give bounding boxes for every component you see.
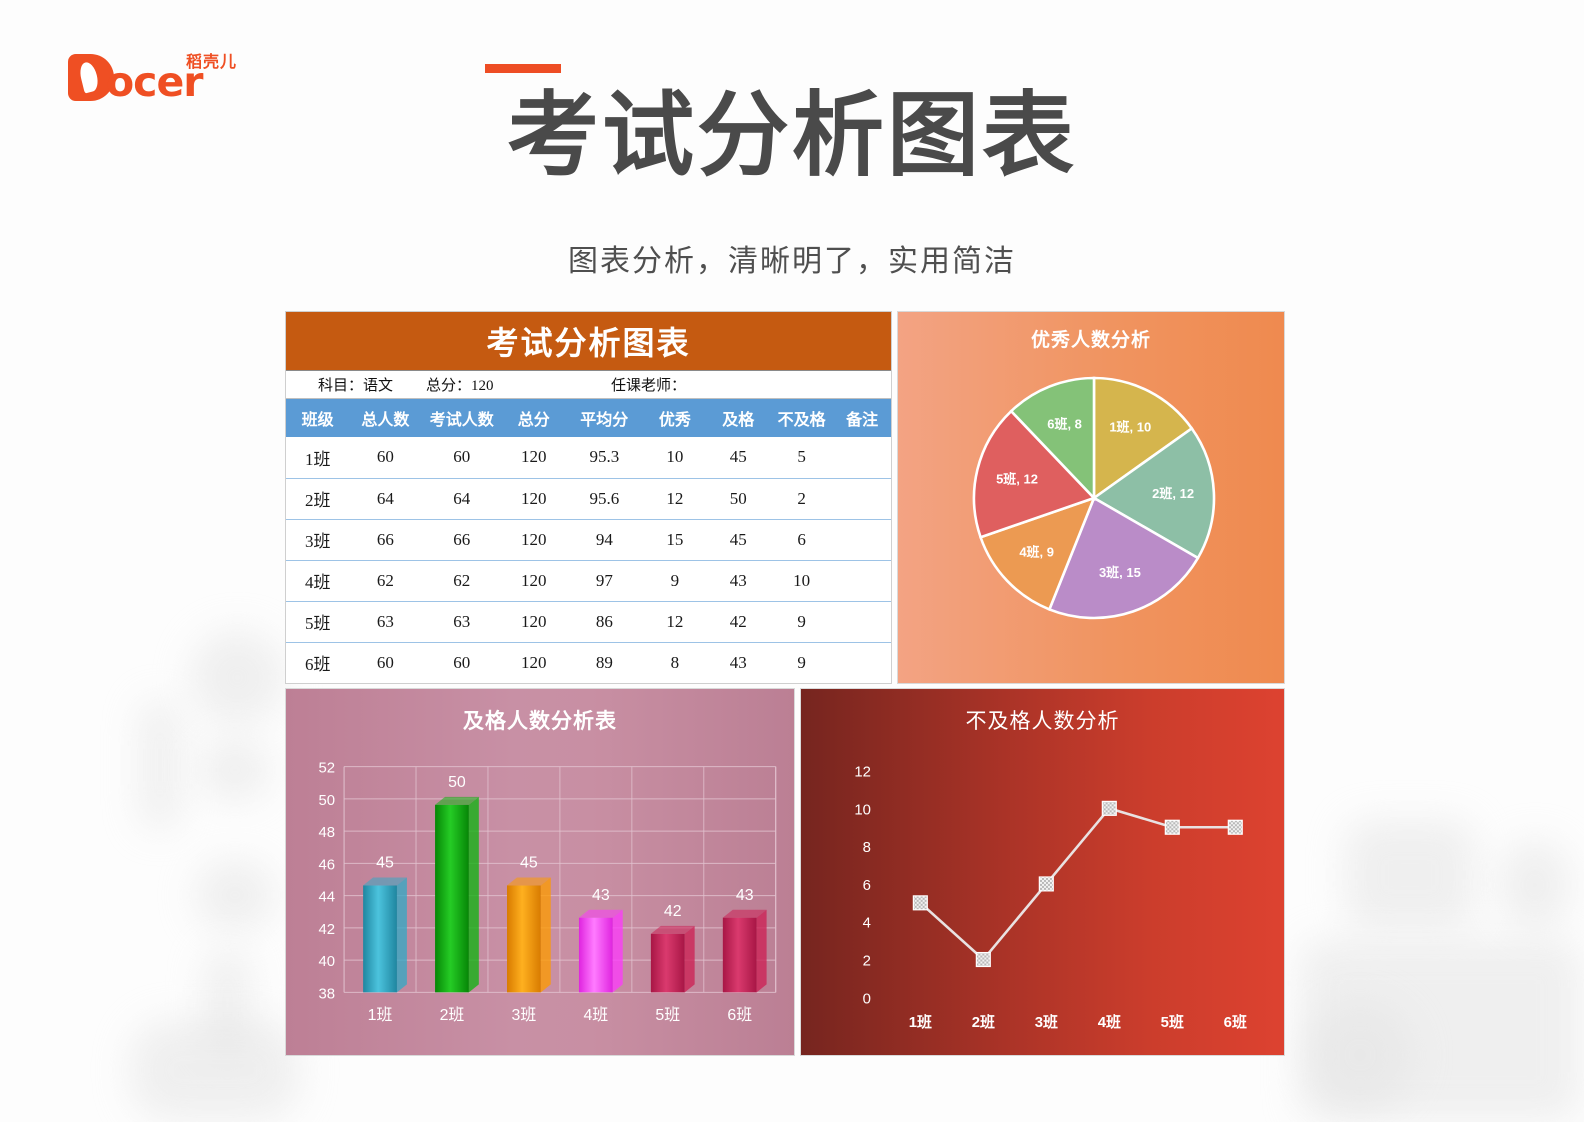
grade-table-info-row: 科目：语文 总分：120 任课老师：	[286, 370, 891, 399]
x-tick-label: 6班	[727, 1006, 752, 1024]
background-watermark-shape	[1345, 820, 1475, 930]
cell-fullmark: 120	[502, 560, 565, 601]
pie-chart-title: 优秀人数分析	[898, 325, 1284, 352]
cell-average: 97	[565, 560, 643, 601]
cell-excellent: 8	[643, 642, 706, 683]
col-header-fail: 不及格	[770, 399, 833, 437]
title-accent-dash	[485, 64, 561, 73]
background-watermark-shape	[130, 1020, 300, 1120]
x-tick-label: 3班	[1035, 1013, 1058, 1031]
bar	[435, 805, 469, 993]
bar-value-label: 42	[664, 903, 682, 920]
cell-examined: 64	[421, 478, 502, 519]
cell-average: 89	[565, 642, 643, 683]
cell-remark	[833, 601, 891, 642]
page-subtitle: 图表分析，清晰明了，实用简洁	[0, 236, 1584, 280]
cell-fail: 10	[770, 560, 833, 601]
bar-side	[397, 877, 407, 992]
cell-average: 95.3	[565, 437, 643, 478]
y-tick-label: 10	[854, 802, 871, 818]
x-tick-label: 2班	[972, 1013, 995, 1031]
line-y-axis-labels: 024681012	[854, 765, 871, 1008]
cell-average: 95.6	[565, 478, 643, 519]
bar-side	[469, 797, 479, 993]
logo-chinese-name: 稻壳儿	[186, 48, 237, 72]
bar-side	[541, 877, 551, 992]
cell-examined: 66	[421, 519, 502, 560]
y-tick-label: 46	[319, 857, 336, 873]
cell-remark	[833, 560, 891, 601]
x-tick-label: 2班	[440, 1006, 465, 1024]
pie-slice-label: 1班, 10	[1109, 420, 1151, 435]
slide-content: 考试分析图表 科目：语文 总分：120 任课老师： 班级 总人数 考试人数 总分	[285, 311, 1285, 1056]
y-tick-label: 8	[863, 840, 871, 856]
cell-fail: 9	[770, 642, 833, 683]
background-watermark-shape	[200, 740, 270, 800]
line-marker	[913, 896, 927, 910]
bar	[579, 918, 613, 993]
line-series-path	[920, 808, 1235, 959]
pie-slice-label: 5班, 12	[996, 471, 1038, 486]
bar-y-axis-labels: 3840424446485052	[319, 761, 336, 1003]
total-score-label: 总分：120	[426, 374, 611, 395]
pie-chart: 1班, 102班, 123班, 154班, 95班, 126班, 8	[970, 374, 1218, 622]
line-marker	[1228, 820, 1242, 834]
cell-fullmark: 120	[502, 642, 565, 683]
cell-pass: 50	[707, 478, 770, 519]
cell-remark	[833, 478, 891, 519]
bar-chart-svg: 3840424446485052 455045434243 1班2班3班4班5班…	[286, 689, 794, 1055]
cell-remark	[833, 519, 891, 560]
cell-fail: 9	[770, 601, 833, 642]
cell-fullmark: 120	[502, 601, 565, 642]
background-watermark-shape	[190, 630, 285, 725]
cell-fail: 2	[770, 478, 833, 519]
cell-class: 4班	[286, 560, 349, 601]
fail-count-line-panel: 不及格人数分析 024681012 1班2班3班4班5班6班	[800, 688, 1285, 1056]
y-tick-label: 48	[319, 825, 336, 841]
line-marker	[1102, 801, 1116, 815]
pie-slice-label: 4班, 9	[1019, 545, 1054, 560]
grade-table-title: 考试分析图表	[286, 312, 891, 370]
y-tick-label: 42	[319, 922, 336, 938]
col-header-total: 总人数	[349, 399, 421, 437]
background-watermark-shape	[1305, 1000, 1415, 1110]
excellent-pie-panel: 优秀人数分析 1班, 102班, 123班, 154班, 95班, 126班, …	[897, 311, 1285, 684]
bar-x-axis-labels: 1班2班3班4班5班6班	[368, 1006, 753, 1024]
y-tick-label: 40	[319, 954, 336, 970]
subject-label: 科目：语文	[286, 374, 426, 395]
cell-examined: 62	[421, 560, 502, 601]
cell-class: 3班	[286, 519, 349, 560]
table-row: 1班 60 60 120 95.3 10 45 5	[286, 437, 891, 478]
cell-total: 60	[349, 642, 421, 683]
cell-fullmark: 120	[502, 478, 565, 519]
x-tick-label: 1班	[909, 1013, 932, 1031]
line-marker	[1039, 877, 1053, 891]
line-chart-svg: 024681012 1班2班3班4班5班6班	[801, 689, 1284, 1055]
col-header-excellent: 优秀	[643, 399, 706, 437]
cell-total: 63	[349, 601, 421, 642]
bar	[651, 934, 685, 993]
bar-value-labels: 455045434243	[376, 774, 754, 920]
bar-value-label: 43	[736, 887, 754, 904]
col-header-pass: 及格	[707, 399, 770, 437]
grade-table-panel: 考试分析图表 科目：语文 总分：120 任课老师： 班级 总人数 考试人数 总分	[285, 311, 892, 684]
y-tick-label: 12	[854, 765, 871, 781]
line-marker	[976, 953, 990, 967]
grade-table-body: 1班 60 60 120 95.3 10 45 5 2班 64 64	[286, 437, 891, 683]
cell-pass: 45	[707, 519, 770, 560]
y-tick-label: 52	[319, 761, 336, 777]
y-tick-label: 2	[863, 953, 871, 969]
col-header-average: 平均分	[565, 399, 643, 437]
col-header-examined: 考试人数	[421, 399, 502, 437]
cell-fail: 6	[770, 519, 833, 560]
col-header-remark: 备注	[833, 399, 891, 437]
background-watermark-shape	[1500, 840, 1570, 930]
y-tick-label: 50	[319, 793, 336, 809]
bar-side	[757, 910, 767, 993]
x-tick-label: 1班	[368, 1006, 393, 1024]
x-tick-label: 5班	[1161, 1013, 1184, 1031]
cell-pass: 43	[707, 560, 770, 601]
cell-average: 86	[565, 601, 643, 642]
cell-examined: 60	[421, 642, 502, 683]
cell-total: 64	[349, 478, 421, 519]
x-tick-label: 5班	[655, 1006, 680, 1024]
cell-class: 5班	[286, 601, 349, 642]
cell-pass: 42	[707, 601, 770, 642]
line-x-axis-labels: 1班2班3班4班5班6班	[909, 1013, 1247, 1031]
x-tick-label: 3班	[512, 1006, 537, 1024]
bar	[363, 885, 397, 992]
slide-page: ocer 稻壳儿 考试分析图表 图表分析，清晰明了，实用简洁 考试分析图表 科目…	[0, 0, 1584, 1122]
pie-slice-label: 2班, 12	[1152, 486, 1194, 501]
cell-excellent: 10	[643, 437, 706, 478]
bar	[507, 885, 541, 992]
cell-remark	[833, 642, 891, 683]
teacher-label: 任课老师：	[611, 374, 891, 395]
bar-side	[613, 910, 623, 993]
y-tick-label: 44	[319, 890, 336, 906]
y-tick-label: 4	[863, 916, 871, 932]
cell-remark	[833, 437, 891, 478]
x-tick-label: 6班	[1224, 1013, 1247, 1031]
table-row: 2班 64 64 120 95.6 12 50 2	[286, 478, 891, 519]
background-watermark-shape	[140, 700, 180, 830]
background-watermark-shape	[195, 860, 275, 930]
cell-examined: 60	[421, 437, 502, 478]
page-title: 考试分析图表	[0, 88, 1584, 185]
cell-excellent: 12	[643, 601, 706, 642]
grade-table: 班级 总人数 考试人数 总分 平均分 优秀 及格 不及格 备注 1班 60	[286, 399, 891, 683]
y-tick-label: 6	[863, 878, 871, 894]
cell-class: 2班	[286, 478, 349, 519]
pie-slice-label: 6班, 8	[1047, 416, 1082, 431]
bar-series	[363, 797, 766, 993]
cell-total: 60	[349, 437, 421, 478]
line-marker	[1165, 820, 1179, 834]
cell-average: 94	[565, 519, 643, 560]
cell-examined: 63	[421, 601, 502, 642]
bar-side	[685, 926, 695, 992]
cell-class: 1班	[286, 437, 349, 478]
x-tick-label: 4班	[1098, 1013, 1121, 1031]
cell-pass: 43	[707, 642, 770, 683]
cell-excellent: 12	[643, 478, 706, 519]
col-header-fullmark: 总分	[502, 399, 565, 437]
bar-value-label: 50	[448, 774, 466, 791]
cell-pass: 45	[707, 437, 770, 478]
table-row: 4班 62 62 120 97 9 43 10	[286, 560, 891, 601]
col-header-class: 班级	[286, 399, 349, 437]
table-header-row: 班级 总人数 考试人数 总分 平均分 优秀 及格 不及格 备注	[286, 399, 891, 437]
table-row: 6班 60 60 120 89 8 43 9	[286, 642, 891, 683]
bar-value-label: 43	[592, 887, 610, 904]
cell-fullmark: 120	[502, 519, 565, 560]
bar-value-label: 45	[376, 855, 394, 872]
cell-excellent: 9	[643, 560, 706, 601]
y-tick-label: 38	[319, 986, 336, 1002]
cell-excellent: 15	[643, 519, 706, 560]
cell-total: 66	[349, 519, 421, 560]
y-tick-label: 0	[863, 991, 871, 1007]
cell-total: 62	[349, 560, 421, 601]
pass-count-bar-panel: 及格人数分析表	[285, 688, 795, 1056]
x-tick-label: 4班	[583, 1006, 608, 1024]
table-row: 3班 66 66 120 94 15 45 6	[286, 519, 891, 560]
bar-gridlines	[344, 767, 776, 993]
bar-value-label: 45	[520, 855, 538, 872]
cell-class: 6班	[286, 642, 349, 683]
bar	[723, 918, 757, 993]
pie-slice-label: 3班, 15	[1099, 565, 1141, 580]
pie-chart-svg: 1班, 102班, 123班, 154班, 95班, 126班, 8	[970, 374, 1218, 622]
cell-fail: 5	[770, 437, 833, 478]
cell-fullmark: 120	[502, 437, 565, 478]
table-row: 5班 63 63 120 86 12 42 9	[286, 601, 891, 642]
